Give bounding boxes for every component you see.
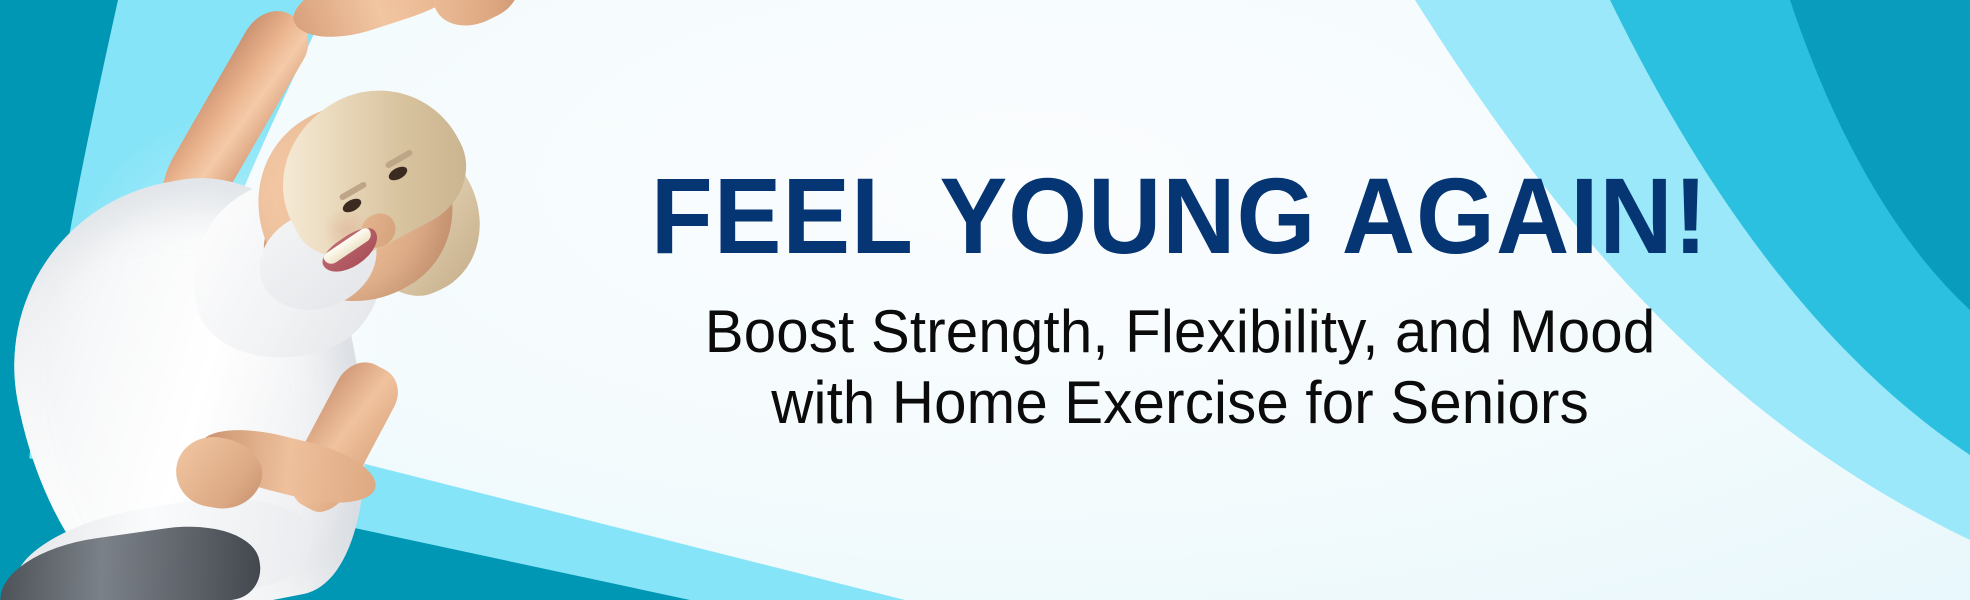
banner-headline: FEEL YOUNG AGAIN! [651, 161, 1709, 277]
senior-woman-exercise-photo [0, 0, 550, 600]
promo-banner: FEEL YOUNG AGAIN! Boost Strength, Flexib… [0, 0, 1970, 600]
banner-subtitle-line-2: with Home Exercise for Seniors [705, 368, 1656, 439]
banner-subtitle-line-1: Boost Strength, Flexibility, and Mood [705, 297, 1656, 368]
banner-text-block: FEEL YOUNG AGAIN! Boost Strength, Flexib… [470, 0, 1890, 600]
banner-subtitle: Boost Strength, Flexibility, and Mood wi… [705, 297, 1656, 439]
